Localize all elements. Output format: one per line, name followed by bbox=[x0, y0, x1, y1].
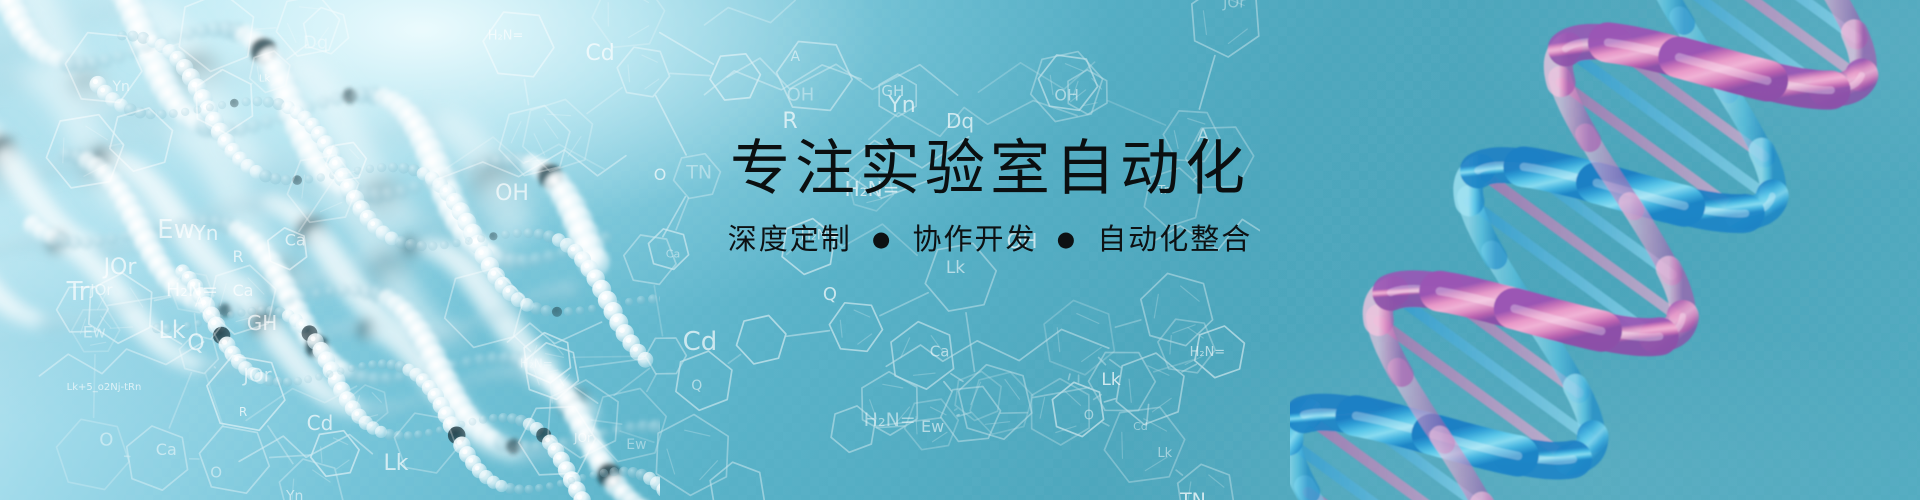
tagline-segment-3: 自动化整合 bbox=[1097, 222, 1252, 256]
hero-copy-block: 专注实验室自动化 深度定制 ● 协作开发 ● 自动化整合 bbox=[0, 138, 1920, 259]
hero-banner: TNJOrOHTNLkEwH₂N=JOrEwH₂N=DqROOH₂N=CaEwA… bbox=[0, 0, 1920, 500]
bullet-separator-icon: ● bbox=[1057, 227, 1077, 251]
page-title: 专注实验室自动化 bbox=[60, 138, 1920, 201]
tagline-segment-2: 协作开发 bbox=[912, 222, 1036, 256]
bullet-separator-icon: ● bbox=[872, 227, 892, 251]
tagline-segment-1: 深度定制 bbox=[728, 222, 852, 256]
hero-tagline: 深度定制 ● 协作开发 ● 自动化整合 bbox=[60, 221, 1920, 259]
